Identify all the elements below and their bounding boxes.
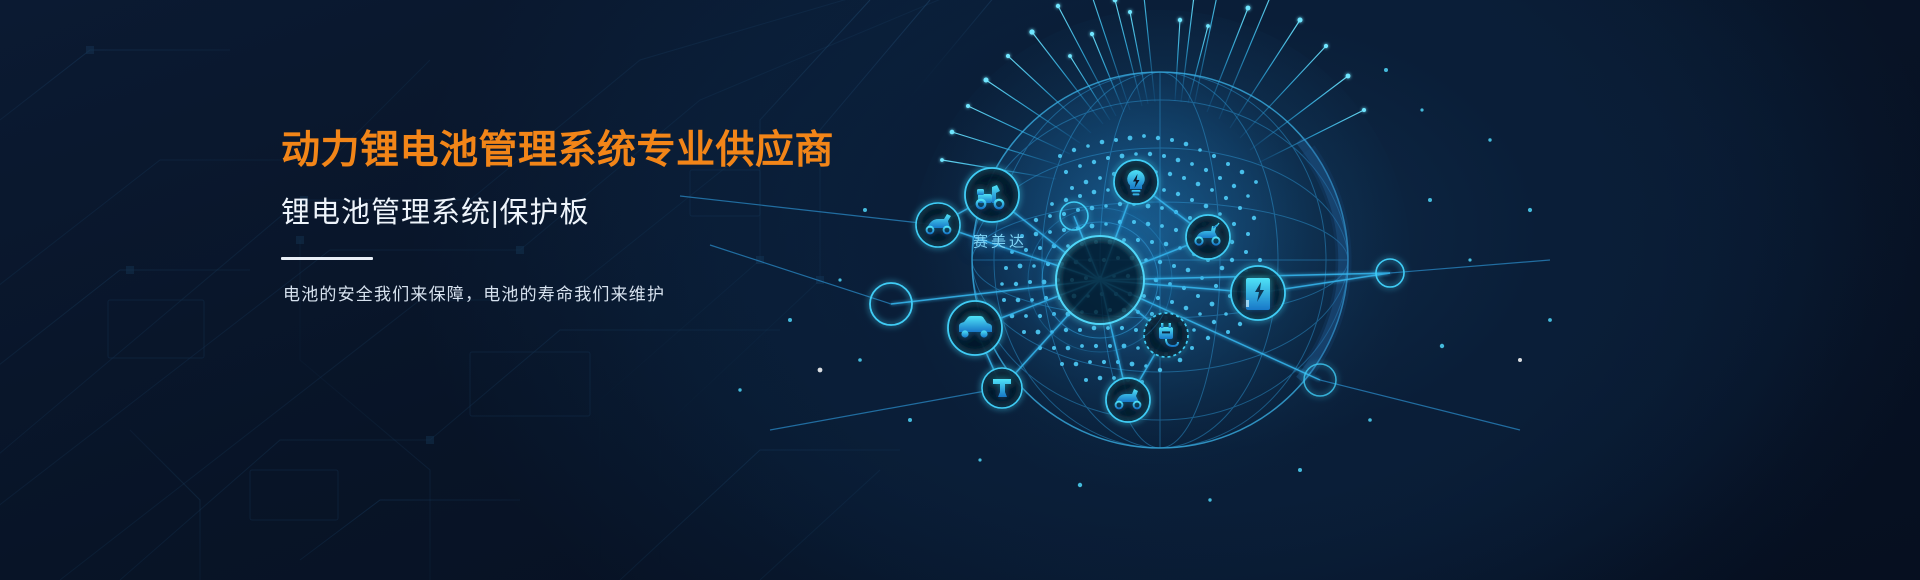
node-ebike-seat [1106, 378, 1150, 422]
page-title: 动力锂电池管理系统专业供应商 [281, 128, 901, 174]
page-subtitle: 锂电池管理系统|保护板 [281, 196, 901, 231]
page-tagline: 电池的安全我们来保障，电池的寿命我们来维护 [283, 282, 901, 308]
node-car [948, 301, 1002, 355]
node-plug-charger [1144, 313, 1188, 357]
node-moped [1186, 215, 1230, 259]
node-scooter [965, 168, 1019, 222]
node-charging-pile [1231, 266, 1285, 320]
network-globe-graphic [830, 0, 1590, 580]
node-ebike [916, 203, 960, 247]
banner-copy: 动力锂电池管理系统专业供应商 锂电池管理系统|保护板 电池的安全我们来保障，电池… [281, 128, 901, 307]
node-lightbulb [1114, 160, 1158, 204]
title-divider [281, 257, 373, 260]
banner-root: 动力锂电池管理系统专业供应商 锂电池管理系统|保护板 电池的安全我们来保障，电池… [0, 0, 1920, 580]
brand-hub-label: 赛美达 [973, 231, 1027, 252]
node-power-tool [982, 368, 1022, 408]
